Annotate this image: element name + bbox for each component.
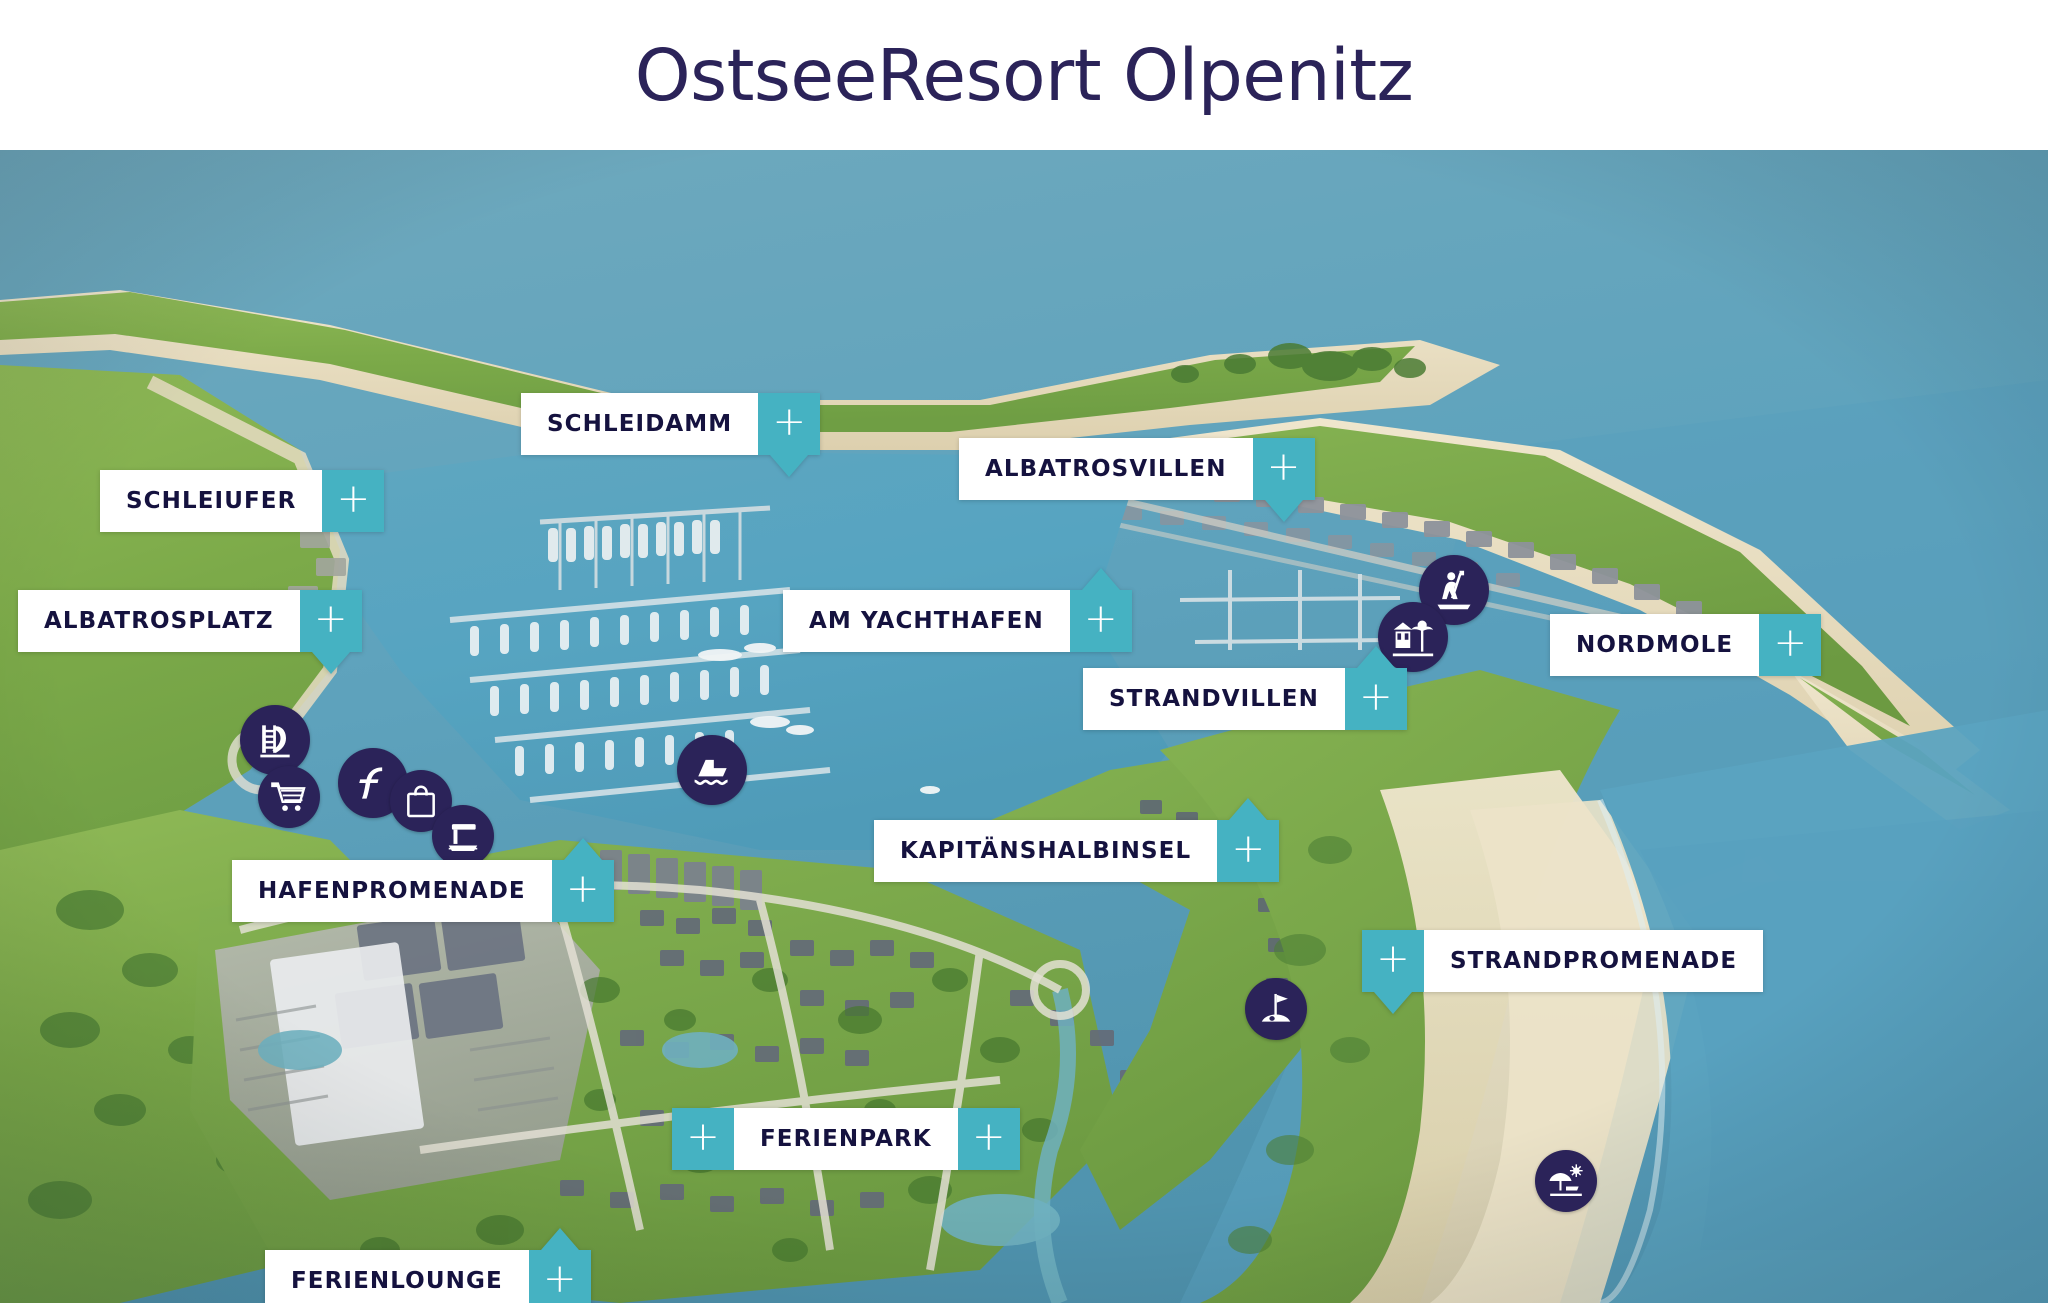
harbour-crane-icon — [444, 817, 482, 855]
beach-hut-icon — [1391, 615, 1435, 659]
golf-flag-icon-marker[interactable] — [1245, 978, 1307, 1040]
hotspot-label-am-yachthafen: AM YACHTHAFEN — [783, 590, 1070, 652]
hotspot-plus-strandvillen[interactable]: + — [1345, 668, 1407, 730]
hotspot-label-kapitaenshalbinsel: KAPITÄNSHALBINSEL — [874, 820, 1217, 882]
page-title: OstseeResort Olpenitz — [635, 34, 1414, 117]
plus-icon: + — [566, 869, 600, 909]
hotspot-label-schleidamm: SCHLEIDAMM — [521, 393, 758, 455]
hotspot-label-ferienpark: FERIENPARK — [734, 1108, 958, 1170]
plus-icon: + — [337, 479, 371, 519]
golf-flag-icon — [1257, 990, 1295, 1028]
plus-icon: + — [1231, 829, 1265, 869]
hotspot-plus-kapitaenshalbinsel[interactable]: + — [1217, 820, 1279, 882]
hotspot-label-strandvillen: STRANDVILLEN — [1083, 668, 1345, 730]
hotspot-strandvillen[interactable]: STRANDVILLEN + — [1083, 668, 1407, 730]
hotspot-label-albatrosvillen: ALBATROSVILLEN — [959, 438, 1253, 500]
harbour-crane-icon-marker[interactable] — [432, 805, 494, 867]
hotspot-plus-nordmole[interactable]: + — [1759, 614, 1821, 676]
hotspot-plus-schleiufer[interactable]: + — [322, 470, 384, 532]
shopping-bag-icon — [402, 782, 440, 820]
restaurant-f-icon — [351, 761, 395, 805]
waterslide-icon-marker[interactable] — [240, 705, 310, 775]
plus-icon: + — [1359, 677, 1393, 717]
hotspot-plus-strandpromenade[interactable]: + — [1362, 930, 1424, 992]
hotspot-schleiufer[interactable]: SCHLEIUFER + — [100, 470, 384, 532]
hotspot-hafenpromenade[interactable]: HAFENPROMENADE + — [232, 860, 614, 922]
hotspot-label-albatrosplatz: ALBATROSPLATZ — [18, 590, 300, 652]
plus-icon: + — [543, 1259, 577, 1299]
motorboat-icon-marker[interactable] — [677, 735, 747, 805]
hotspot-label-schleiufer: SCHLEIUFER — [100, 470, 322, 532]
plus-icon: + — [1267, 447, 1301, 487]
hotspot-albatrosvillen[interactable]: ALBATROSVILLEN + — [959, 438, 1315, 500]
hotspot-label-ferienlounge: FERIENLOUNGE — [265, 1250, 529, 1303]
hotspot-label-hafenpromenade: HAFENPROMENADE — [232, 860, 552, 922]
resort-map-page: OstseeResort Olpenitz — [0, 0, 2048, 1303]
title-bar: OstseeResort Olpenitz — [0, 0, 2048, 150]
waterslide-icon — [253, 718, 297, 762]
shopping-cart-icon-marker[interactable] — [258, 766, 320, 828]
hotspot-kapitaenshalbinsel[interactable]: KAPITÄNSHALBINSEL + — [874, 820, 1279, 882]
hotspot-plus-ferienpark-left[interactable]: + — [672, 1108, 734, 1170]
hotspot-nordmole[interactable]: NORDMOLE + — [1550, 614, 1821, 676]
hotspot-plus-hafenpromenade[interactable]: + — [552, 860, 614, 922]
hotspot-albatrosplatz[interactable]: ALBATROSPLATZ + — [18, 590, 362, 652]
beach-parasol-icon — [1547, 1162, 1585, 1200]
beach-parasol-icon-marker[interactable] — [1535, 1150, 1597, 1212]
plus-icon: + — [686, 1117, 720, 1157]
plus-icon: + — [314, 599, 348, 639]
hotspot-label-nordmole: NORDMOLE — [1550, 614, 1759, 676]
plus-icon: + — [1376, 939, 1410, 979]
plus-icon: + — [773, 402, 807, 442]
shopping-cart-icon — [270, 778, 308, 816]
hotspot-plus-schleidamm[interactable]: + — [758, 393, 820, 455]
hotspot-plus-albatrosplatz[interactable]: + — [300, 590, 362, 652]
hotspot-schleidamm[interactable]: SCHLEIDAMM + — [521, 393, 820, 455]
plus-icon: + — [1773, 623, 1807, 663]
paddleboard-icon — [1432, 568, 1476, 612]
hotspot-strandpromenade[interactable]: STRANDPROMENADE + — [1362, 930, 1763, 992]
hotspot-plus-ferienpark-right[interactable]: + — [958, 1108, 1020, 1170]
hotspot-am-yachthafen[interactable]: AM YACHTHAFEN + — [783, 590, 1132, 652]
resort-aerial-map[interactable]: SCHLEIDAMM + SCHLEIUFER + ALBATROSVILLEN… — [0, 150, 2048, 1303]
motorboat-icon — [690, 748, 734, 792]
hotspot-label-strandpromenade: STRANDPROMENADE — [1424, 930, 1763, 992]
hotspot-plus-albatrosvillen[interactable]: + — [1253, 438, 1315, 500]
hotspot-ferienpark[interactable]: + FERIENPARK + — [672, 1108, 1020, 1170]
hotspot-plus-am-yachthafen[interactable]: + — [1070, 590, 1132, 652]
plus-icon: + — [972, 1117, 1006, 1157]
hotspot-plus-ferienlounge[interactable]: + — [529, 1250, 591, 1303]
hotspot-ferienlounge[interactable]: FERIENLOUNGE + — [265, 1250, 591, 1303]
plus-icon: + — [1084, 599, 1118, 639]
